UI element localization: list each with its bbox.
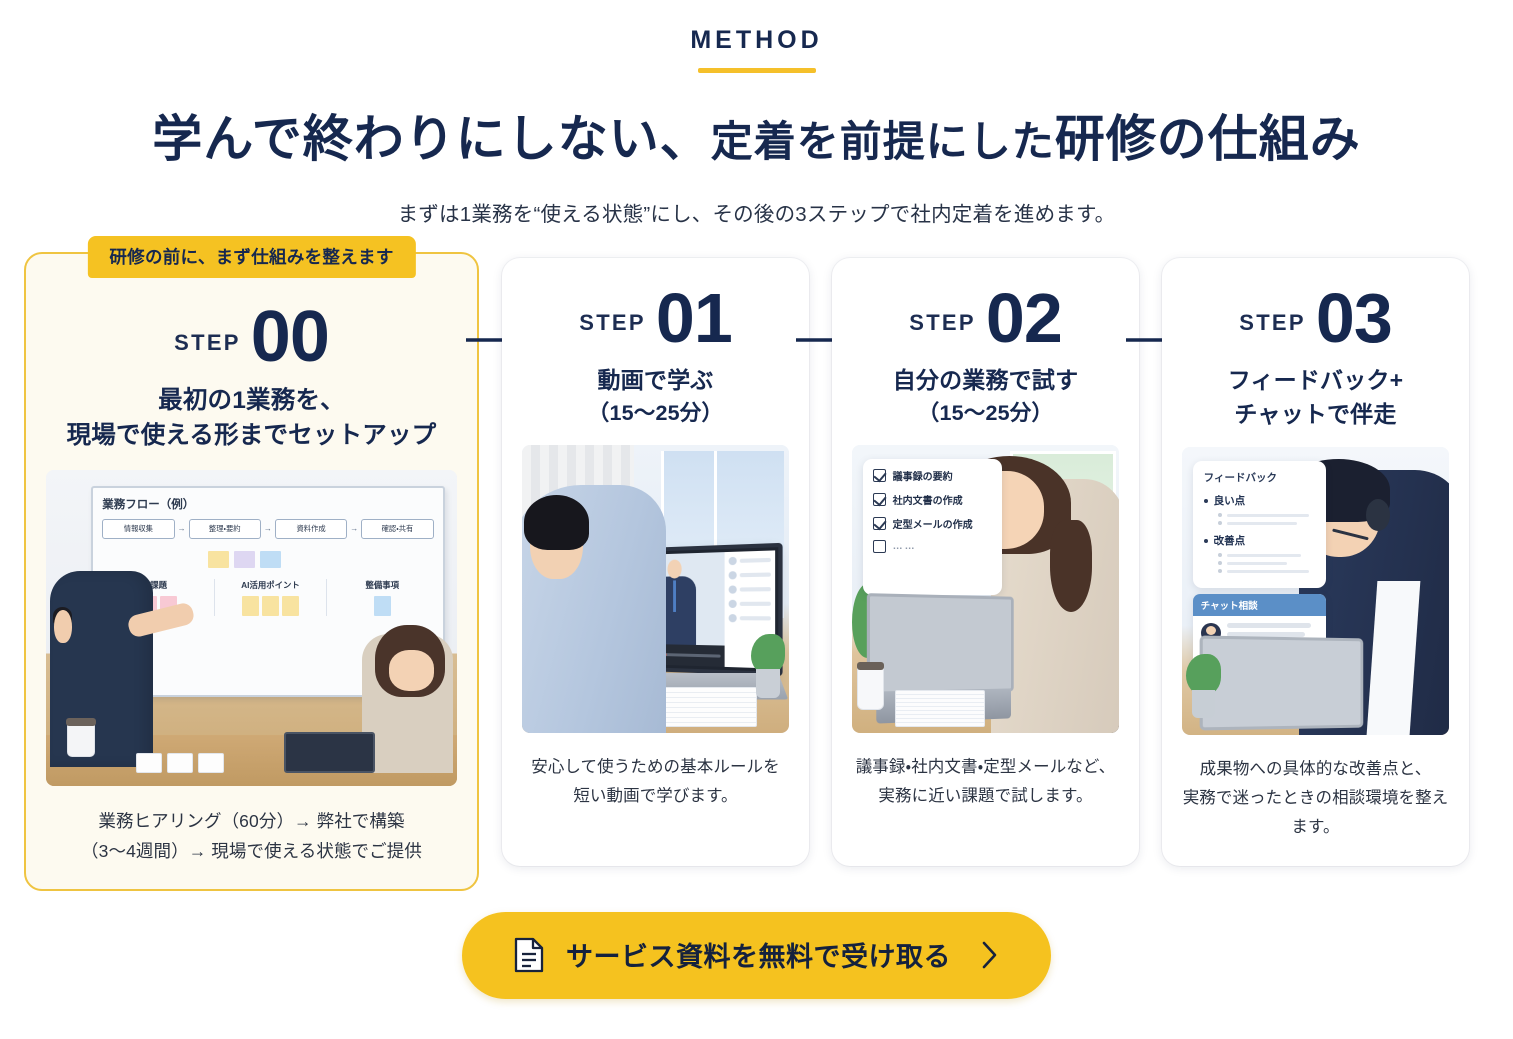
step-03-title-line2: チャットで伴走	[1234, 401, 1396, 427]
clipboard-document	[895, 690, 986, 727]
agent-shirt	[1367, 581, 1421, 735]
step-03-caption-line1: 成果物への具体的な改善点と、	[1200, 760, 1432, 778]
learner-figure	[522, 485, 666, 733]
sticky-note	[262, 596, 279, 616]
coffee-cup	[857, 667, 884, 710]
flow-arrow-icon: →	[178, 524, 186, 533]
whiteboard-column: AI活用ポイント	[214, 579, 322, 616]
practitioner-ponytail	[1050, 520, 1093, 612]
checklist-label: ……	[893, 541, 917, 552]
page-subtitle: まずは1業務を“使える状態”にし、その後の3ステップで社内定着を進めます。	[0, 197, 1513, 227]
placeholder-line	[1218, 513, 1316, 517]
sticky-note	[374, 596, 391, 616]
step-02-caption: 議事録・社内文書・定型メールなど、 実務に近い課題で試します。	[856, 753, 1116, 811]
lesson-list-item	[729, 570, 771, 579]
step-01-duration: （15〜25分）	[588, 398, 723, 429]
checkbox-checked-icon	[873, 517, 886, 530]
whiteboard-title: 業務フロー（例）	[102, 496, 433, 512]
page-title-part1: 学んで終わりにしない、	[152, 111, 711, 167]
sticky-note	[282, 596, 299, 616]
sticky-note	[242, 596, 259, 616]
laptop-device	[1199, 636, 1362, 731]
step-03-number: 03	[1316, 286, 1392, 350]
checklist-item: ……	[873, 540, 992, 553]
placeholder-line	[1218, 561, 1316, 565]
step-00-caption-line2: （3〜4週間）→ 現場で使える状態でご提供	[81, 841, 422, 861]
bullet-icon	[1204, 499, 1208, 503]
step-00-number-row: STEP 00	[174, 304, 329, 370]
whiteboard-flow: 情報収集 → 整理・要約 → 資料作成 → 確認・共有	[102, 519, 433, 539]
flow-step: 資料作成	[275, 519, 347, 539]
sticky-note	[208, 551, 229, 568]
presenter-figure	[50, 571, 153, 767]
page-title-part2: 定着を前提にした	[711, 118, 1055, 165]
participant-face	[389, 650, 434, 691]
step-01-step-word: STEP	[579, 310, 646, 350]
placeholder-line	[1218, 553, 1316, 557]
step-00-illustration: 業務フロー（例） 情報収集 → 整理・要約 → 資料作成 → 確認・共有	[46, 470, 457, 786]
step-03-step-word: STEP	[1239, 310, 1306, 350]
chevron-right-icon	[979, 939, 999, 971]
step-00-caption-line1: 業務ヒアリング（60分）→ 弊社で構築	[98, 811, 404, 831]
feedback-improve-row: 改善点	[1204, 533, 1316, 548]
page-title: 学んで終わりにしない、定着を前提にした研修の仕組み	[0, 99, 1513, 171]
paper-sheet	[167, 753, 193, 773]
step-00-title: 最初の1業務を、 現場で使える形までセットアップ	[67, 384, 437, 454]
step-03-title: フィードバック+ チャットで伴走	[1228, 364, 1404, 431]
page-title-part3: 研修の仕組み	[1055, 111, 1361, 167]
checkbox-checked-icon	[873, 469, 886, 482]
coffee-cup	[67, 723, 96, 758]
flow-arrow-icon: →	[350, 524, 358, 533]
step-01-number-row: STEP 01	[579, 286, 732, 350]
step-00-badge: 研修の前に、まず仕組みを整えます	[87, 236, 415, 278]
column-header: AI活用ポイント	[219, 579, 322, 591]
document-icon	[514, 937, 544, 973]
chat-panel-title: チャット相談	[1193, 594, 1327, 616]
column-notes	[219, 596, 322, 616]
bullet-icon	[1204, 539, 1208, 543]
checkbox-unchecked-icon	[873, 540, 886, 553]
step-01-illustration	[522, 445, 789, 733]
step-02-number: 02	[986, 286, 1062, 350]
column-header: 整備事項	[331, 579, 434, 591]
step-00-title-line1: 最初の1業務を、	[158, 387, 345, 414]
step-01-title-line1: 動画で学ぶ	[598, 367, 714, 393]
checklist-item: 社内文書の作成	[873, 492, 992, 507]
eyebrow-underline	[698, 68, 816, 73]
chat-bubble-line	[1227, 623, 1311, 628]
laptop-device	[867, 593, 1013, 695]
desk-papers	[136, 753, 224, 773]
plant-pot	[1192, 690, 1214, 718]
flow-step: 情報収集	[102, 519, 174, 539]
feedback-improve-label: 改善点	[1214, 533, 1246, 548]
plant-leaves	[751, 634, 785, 675]
feedback-card-title: フィードバック	[1204, 470, 1316, 485]
step-02-illustration: 議事録の要約 社内文書の作成 定型メールの作成 ……	[852, 445, 1119, 733]
step-02-title: 自分の業務で試す （15〜25分）	[893, 364, 1079, 429]
cta-section: サービス資料を無料で受け取る	[0, 912, 1513, 999]
notebook	[650, 687, 757, 727]
flow-step: 確認・共有	[361, 519, 433, 539]
step-01-caption-line2: 短い動画で学びます。	[573, 787, 737, 805]
checklist-label: 定型メールの作成	[893, 516, 973, 531]
step-01-number: 01	[656, 286, 732, 350]
step-00-caption: 業務ヒアリング（60分）→ 弊社で構築 （3〜4週間）→ 現場で使える状態でご提…	[81, 806, 422, 867]
flow-step: 整理・要約	[189, 519, 261, 539]
section-eyebrow: METHOD	[690, 26, 822, 55]
potted-plant	[749, 635, 786, 698]
step-03-title-line1: フィードバック+	[1228, 367, 1404, 393]
paper-sheet	[198, 753, 224, 773]
method-eyebrow-block: METHOD	[0, 0, 1513, 73]
feedback-good-label: 良い点	[1214, 493, 1246, 508]
headset-icon	[1366, 499, 1390, 531]
feedback-good-lines	[1218, 513, 1316, 525]
checkbox-checked-icon	[873, 493, 886, 506]
whiteboard-column: 整備事項	[326, 579, 434, 616]
download-service-document-button[interactable]: サービス資料を無料で受け取る	[462, 912, 1051, 999]
plant-leaves	[1186, 654, 1220, 695]
step-card-03[interactable]: STEP 03 フィードバック+ チャットで伴走 フィードバック	[1162, 258, 1469, 866]
method-steps-row: 研修の前に、まず仕組みを整えます STEP 00 最初の1業務を、 現場で使える…	[24, 252, 1489, 877]
step-03-illustration: フィードバック 良い点 改善点	[1182, 447, 1449, 735]
column-notes	[331, 596, 434, 616]
lesson-list-item	[729, 599, 771, 607]
learner-hair	[524, 495, 589, 549]
placeholder-line	[1218, 521, 1316, 525]
checklist-item: 議事録の要約	[873, 468, 992, 483]
cta-label: サービス資料を無料で受け取る	[566, 935, 951, 974]
checklist-label: 社内文書の作成	[893, 492, 963, 507]
step-03-caption-line2: 実務で迷ったときの相談環境を整えます。	[1183, 789, 1449, 836]
step-00-title-line2: 現場で使える形までセットアップ	[67, 422, 437, 449]
step-02-caption-line2: 実務に近い課題で試します。	[878, 787, 1092, 805]
checklist-label: 議事録の要約	[893, 468, 953, 483]
checklist-item: 定型メールの作成	[873, 516, 992, 531]
step-01-caption-line1: 安心して使うための基本ルールを	[531, 758, 780, 776]
step-01-caption: 安心して使うための基本ルールを 短い動画で学びます。	[531, 753, 780, 811]
step-card-02[interactable]: STEP 02 自分の業務で試す （15〜25分） 議事録の要約	[832, 258, 1139, 866]
step-03-number-row: STEP 03	[1239, 286, 1392, 350]
step-02-duration: （15〜25分）	[893, 398, 1079, 429]
step-02-title-line1: 自分の業務で試す	[893, 367, 1079, 393]
feedback-good-row: 良い点	[1204, 493, 1316, 508]
task-checklist-card: 議事録の要約 社内文書の作成 定型メールの作成 ……	[863, 459, 1002, 594]
step-card-00[interactable]: 研修の前に、まず仕組みを整えます STEP 00 最初の1業務を、 現場で使える…	[24, 252, 479, 891]
potted-plant	[1185, 654, 1222, 717]
whiteboard-sticky-notes	[208, 551, 433, 568]
step-01-title: 動画で学ぶ （15〜25分）	[588, 364, 723, 429]
step-00-step-word: STEP	[174, 330, 241, 370]
step-card-01[interactable]: STEP 01 動画で学ぶ （15〜25分）	[502, 258, 809, 866]
step-00-number: 00	[251, 304, 329, 370]
step-02-number-row: STEP 02	[909, 286, 1062, 350]
feedback-card: フィードバック 良い点 改善点	[1193, 461, 1327, 588]
sticky-note	[260, 551, 281, 568]
step-02-caption-line1: 議事録・社内文書・定型メールなど、	[856, 758, 1116, 776]
flow-arrow-icon: →	[264, 524, 272, 533]
sticky-note	[234, 551, 255, 568]
lesson-list-item	[729, 556, 771, 565]
paper-sheet	[136, 753, 162, 773]
lesson-list-item	[729, 614, 771, 622]
lesson-list-item	[729, 585, 771, 594]
plant-pot	[756, 669, 780, 698]
step-02-step-word: STEP	[909, 310, 976, 350]
step-03-caption: 成果物への具体的な改善点と、 実務で迷ったときの相談環境を整えます。	[1182, 755, 1449, 842]
feedback-improve-lines	[1218, 553, 1316, 573]
tablet-device	[284, 732, 374, 773]
placeholder-line	[1218, 569, 1316, 573]
presenter-head	[54, 610, 71, 643]
